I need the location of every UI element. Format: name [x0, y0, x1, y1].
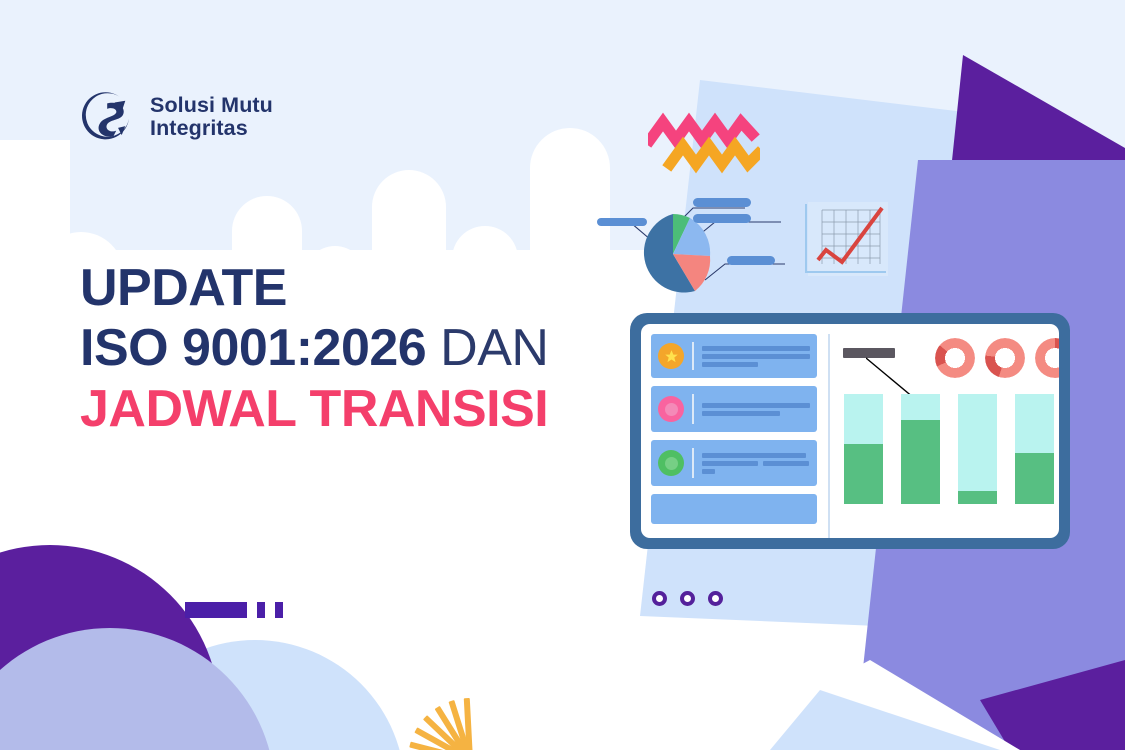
headline-line-1: UPDATE — [80, 262, 548, 314]
sunburst-ray — [464, 698, 473, 750]
divider — [692, 394, 694, 424]
dot-icon — [708, 591, 723, 606]
donut-chart — [935, 338, 975, 378]
pie-callout-right — [705, 264, 785, 280]
dashboard-charts — [830, 334, 1051, 538]
circle-green-icon — [658, 450, 684, 476]
divider — [692, 342, 694, 370]
list-item[interactable] — [651, 386, 817, 432]
pie-label-left — [597, 218, 647, 226]
dots-row — [652, 591, 723, 606]
pie-chart — [595, 196, 795, 312]
list-item[interactable] — [651, 334, 817, 378]
brand-name: Solusi Mutu Integritas — [150, 94, 273, 140]
text-line — [702, 362, 758, 367]
text-line — [702, 453, 806, 458]
bar-fill — [958, 491, 997, 504]
pie-slices — [644, 214, 710, 293]
donut-chart — [1035, 338, 1059, 378]
bar-column — [1015, 394, 1054, 504]
bar-fill — [1015, 453, 1054, 504]
text-lines — [702, 346, 810, 367]
bar-fill — [844, 444, 883, 505]
dashboard-panel[interactable] — [630, 313, 1070, 549]
sunburst-icon — [390, 680, 550, 750]
donut-chart — [985, 338, 1025, 378]
zigzag-pink-icon — [650, 122, 752, 140]
headline-line-2: ISO 9001:2026 DAN — [80, 322, 548, 374]
headline-line-3: JADWAL TRANSISI — [80, 383, 548, 435]
page-title: UPDATE ISO 9001:2026 DAN JADWAL TRANSISI — [80, 262, 548, 435]
accent-bar — [185, 602, 247, 618]
brand-name-line2: Integritas — [150, 117, 273, 140]
dot-icon — [652, 591, 667, 606]
dashboard-screen — [641, 324, 1059, 538]
solusi-mutu-swoosh-icon — [80, 88, 138, 146]
bar-column — [844, 394, 883, 504]
bar-column — [958, 394, 997, 504]
dashboard-list — [651, 334, 830, 538]
text-line — [702, 461, 758, 466]
brand-name-line1: Solusi Mutu — [150, 94, 273, 117]
text-line — [702, 354, 810, 359]
list-item[interactable] — [651, 494, 817, 524]
bar-chart — [844, 394, 1054, 504]
circle-pink-icon — [658, 396, 684, 422]
text-line — [702, 411, 780, 416]
text-line-row — [702, 461, 810, 466]
bar-fill — [901, 420, 940, 504]
text-line — [702, 469, 715, 474]
bar-column — [901, 394, 940, 504]
dot-icon — [680, 591, 695, 606]
text-line — [702, 346, 810, 351]
poster-canvas: Solusi Mutu Integritas UPDATE ISO 9001:2… — [0, 0, 1125, 750]
text-lines — [702, 403, 810, 416]
zigzag-orange-icon — [670, 146, 758, 164]
headline-conjunction: DAN — [440, 319, 548, 377]
star-icon — [658, 343, 684, 369]
pie-label-top-1 — [693, 198, 751, 207]
text-line — [702, 403, 810, 408]
brand-logo: Solusi Mutu Integritas — [80, 88, 273, 146]
accent-square — [275, 602, 283, 618]
list-item[interactable] — [651, 440, 817, 486]
donut-group — [935, 338, 1059, 378]
accent-square — [257, 602, 265, 618]
line-chart — [800, 198, 892, 280]
text-lines — [702, 453, 810, 474]
divider — [692, 448, 694, 478]
text-line — [763, 461, 808, 466]
zigzag-group — [648, 104, 760, 174]
accent-bar-group — [185, 602, 283, 618]
pie-label-right — [727, 256, 775, 265]
pie-label-top-2 — [693, 214, 751, 223]
headline-standard: ISO 9001:2026 — [80, 319, 426, 377]
